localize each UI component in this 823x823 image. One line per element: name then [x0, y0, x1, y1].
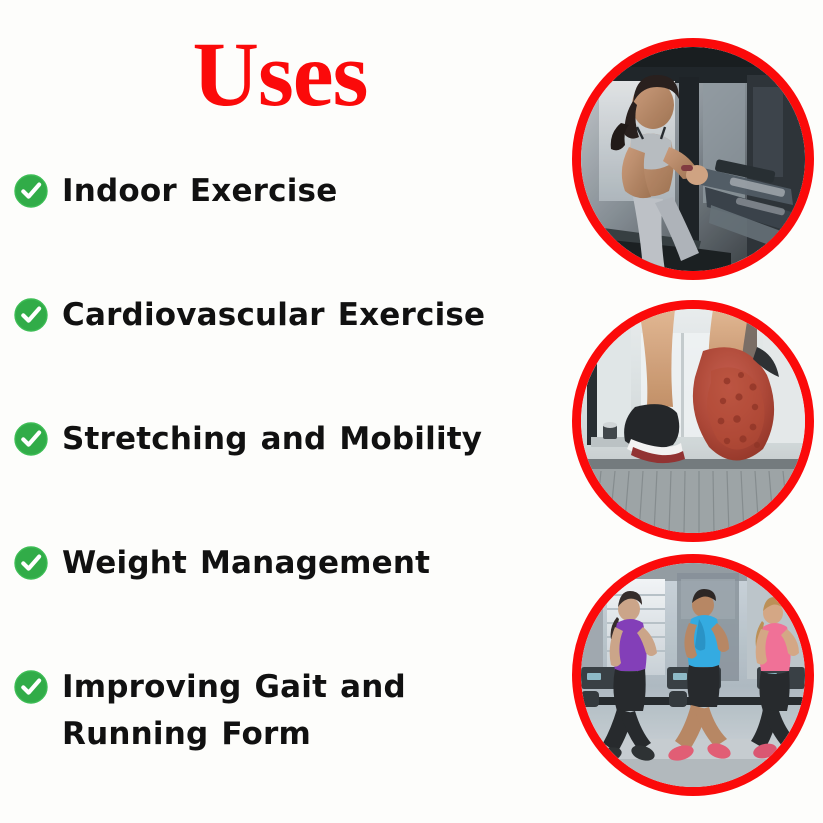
- list-item: Improving Gait and Running Form: [14, 664, 559, 758]
- list-item-label: Indoor Exercise: [62, 168, 559, 215]
- list-item-label: Stretching and Mobility: [62, 416, 559, 463]
- check-circle-icon: [14, 298, 48, 332]
- check-circle-icon: [14, 174, 48, 208]
- photo-column: [572, 38, 815, 808]
- page-title: Uses: [0, 28, 560, 120]
- list-item: Stretching and Mobility: [14, 416, 559, 478]
- check-circle-icon: [14, 670, 48, 704]
- running-shoe-sole-on-treadmill-photo: [572, 300, 814, 542]
- woman-running-on-treadmill-photo: [572, 38, 814, 280]
- check-circle-icon: [14, 422, 48, 456]
- list-item: Weight Management: [14, 540, 559, 602]
- list-item: Indoor Exercise: [14, 168, 559, 230]
- check-circle-icon: [14, 546, 48, 580]
- list-item-label: Weight Management: [62, 540, 559, 587]
- group-running-on-treadmills-photo: [572, 554, 814, 796]
- uses-poster: Uses Indoor Exercise Cardiovascula: [0, 0, 823, 823]
- list-item-label: Improving Gait and Running Form: [62, 664, 559, 758]
- list-item: Cardiovascular Exercise: [14, 292, 559, 354]
- uses-list: Indoor Exercise Cardiovascular Exercise: [14, 168, 559, 758]
- list-item-label: Cardiovascular Exercise: [62, 292, 559, 339]
